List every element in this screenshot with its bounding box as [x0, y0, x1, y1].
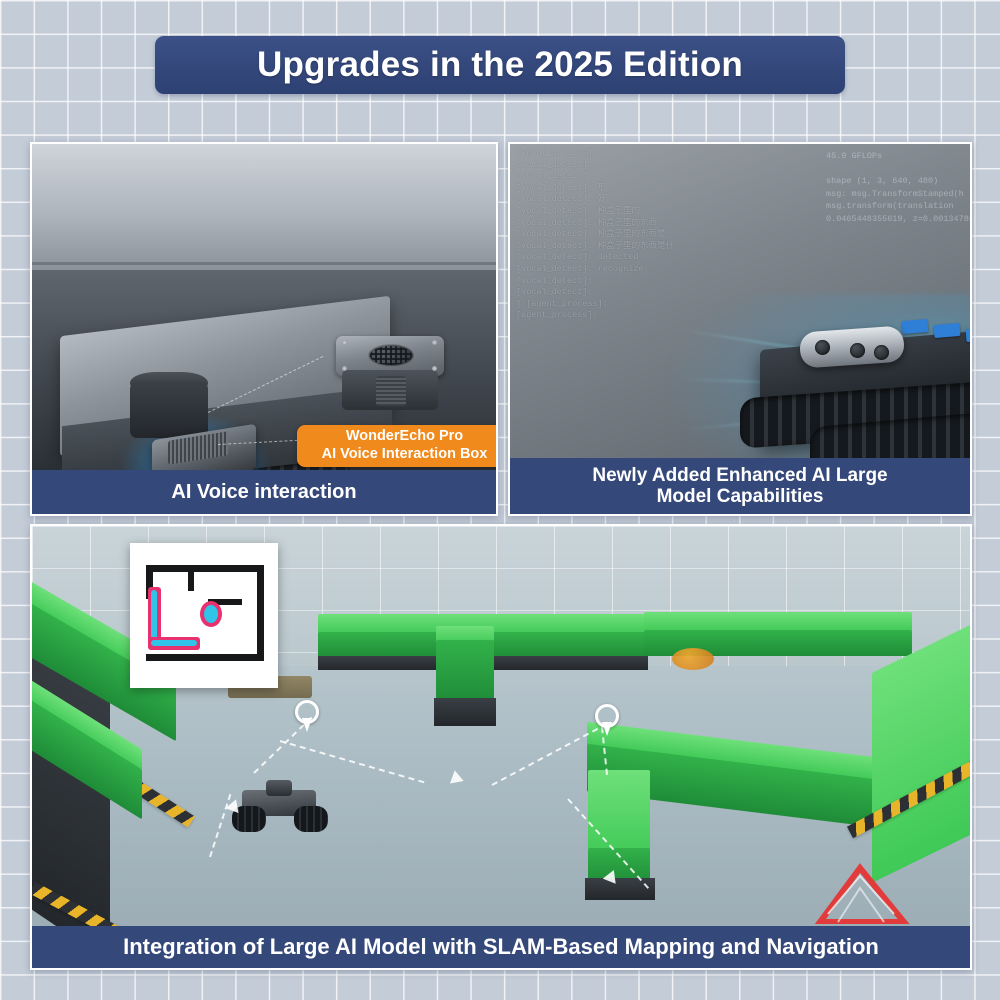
prop-fruit-basket: [672, 648, 714, 670]
map-wall: [188, 565, 194, 591]
arena-scene: [32, 526, 970, 930]
panel-slam-navigation: Go to the zoo and see what animals are t…: [30, 524, 972, 970]
wonderecho-pro-device: [332, 336, 448, 414]
slam-arena-photo: Go to the zoo and see what animals are t…: [32, 526, 970, 930]
map-wall: [146, 565, 264, 572]
robot-path-trace: [151, 640, 197, 646]
speaker-mesh-icon: [370, 346, 412, 365]
bench-surface: [32, 144, 496, 270]
robot-path-trace: [204, 605, 218, 623]
waypoint-pin-zoo: [295, 700, 319, 732]
map-wall: [257, 565, 264, 661]
goal-net-icon: [814, 862, 910, 924]
green-wall-block: [644, 612, 912, 632]
screw-icon: [432, 340, 437, 345]
device-heatsink-icon: [376, 376, 406, 406]
ai-models-photo: [agent_process]: [vocal_detect]: [vocal_…: [510, 144, 970, 462]
usb-port-icon: [901, 319, 928, 334]
panel-ai-voice-interaction: WonderEcho Pro AI Voice Interaction Box …: [30, 142, 498, 516]
panel-caption-ai-models: Newly Added Enhanced AI Large Model Capa…: [510, 458, 970, 514]
camera-lens-icon: [850, 343, 865, 358]
caption-line2: Model Capabilities: [592, 486, 887, 507]
panel-caption-slam: Integration of Large AI Model with SLAM-…: [32, 926, 970, 968]
caption-text: AI Voice interaction: [171, 481, 356, 503]
screw-icon: [342, 366, 347, 371]
football-goal: [814, 862, 910, 924]
caption-line1: Newly Added Enhanced AI Large: [592, 465, 887, 486]
lidar-sensor: [130, 382, 208, 438]
green-wall-block: [436, 640, 494, 702]
wonderecho-callout-label: WonderEcho Pro AI Voice Interaction Box: [297, 425, 496, 467]
screw-icon: [432, 366, 437, 371]
panel-ai-large-models: [agent_process]: [vocal_detect]: [vocal_…: [508, 142, 972, 516]
page-title-banner: Upgrades in the 2025 Edition: [155, 36, 845, 94]
wall-shadow: [585, 878, 655, 900]
lidar-sensor: [266, 780, 292, 796]
terminal-robot-scene: [agent_process]: [vocal_detect]: [vocal_…: [510, 144, 970, 462]
robot-track-right: [294, 806, 328, 832]
green-wall-block: [588, 770, 650, 860]
page-title: Upgrades in the 2025 Edition: [257, 45, 743, 85]
pin-tip: [302, 718, 312, 732]
terminal-log-right: 45.9 GFLOPs shape (1, 3, 640, 480) msg: …: [826, 150, 970, 225]
mobile-robot: [232, 784, 328, 834]
slam-map-inset: [130, 543, 278, 688]
ai-voice-photo: WonderEcho Pro AI Voice Interaction Box: [32, 144, 496, 474]
pin-tip: [602, 722, 612, 736]
usb-port-icon: [933, 323, 960, 338]
device-label-line1: WonderEcho Pro: [346, 428, 463, 446]
camera-lens-icon: [815, 340, 830, 355]
map-wall: [146, 654, 264, 661]
bench-edge: [32, 262, 496, 265]
screw-icon: [342, 340, 347, 345]
usb-port-icon: [965, 327, 970, 342]
page-root: Upgrades in the 2025 Edition: [0, 0, 1000, 1000]
panel-caption-ai-voice: AI Voice interaction: [32, 470, 496, 514]
caption-text: Integration of Large AI Model with SLAM-…: [123, 935, 879, 960]
camera-lens-icon: [874, 345, 889, 360]
waypoint-pin-supermarket: [595, 704, 619, 736]
wall-shadow: [434, 698, 496, 726]
device-label-line2: AI Voice Interaction Box: [322, 446, 488, 464]
